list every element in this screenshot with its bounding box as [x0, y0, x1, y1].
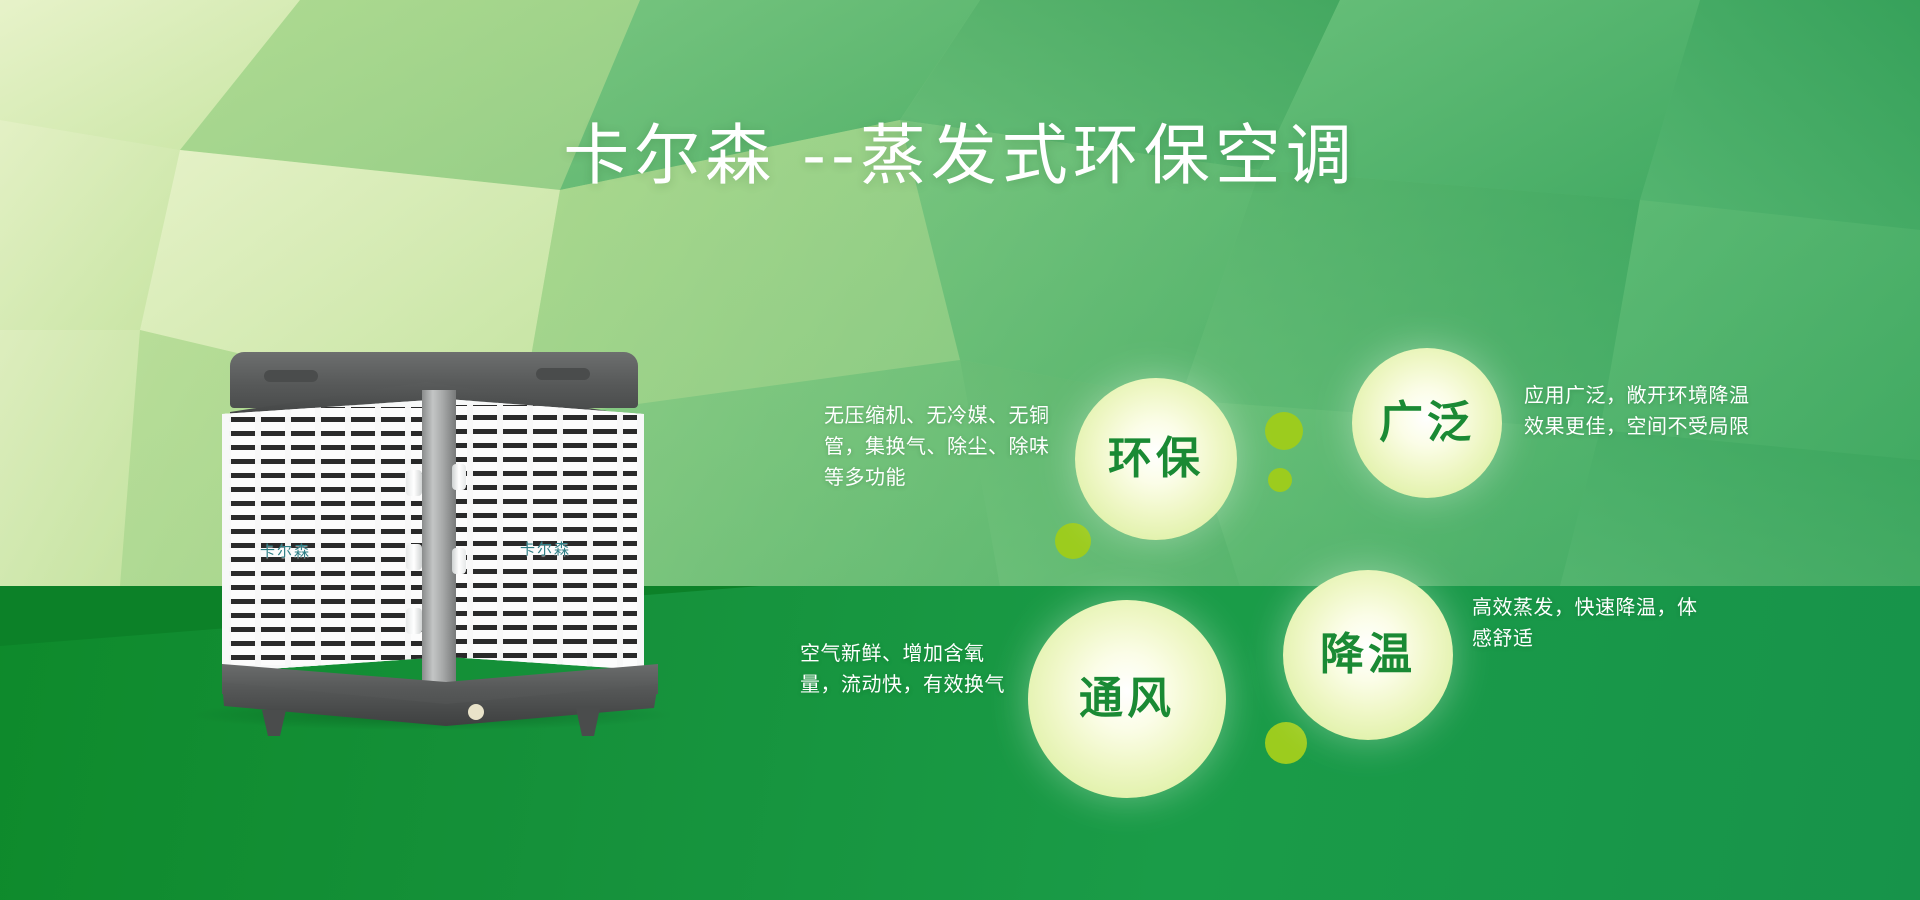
product-corner-post: [422, 390, 456, 690]
feature-circle-guangfan: 广泛: [1352, 348, 1502, 498]
feature-caption-jiangwen: 高效蒸发，快速降温，体感舒适: [1472, 592, 1712, 654]
product-hinge-right-2: [452, 548, 466, 574]
feature-circle-tongfeng: 通风: [1028, 600, 1226, 798]
feature-label-guangfan: 广泛: [1379, 401, 1475, 445]
feature-caption-huanbao: 无压缩机、无冷媒、无铜管，集换气、除尘、除味等多功能: [824, 400, 1056, 493]
product-drain-knob: [468, 704, 484, 720]
product-image-air-cooler: 卡尔森 卡尔森: [200, 352, 660, 752]
product-hinge-left-2: [406, 544, 422, 570]
accent-dot-1: [1265, 412, 1303, 450]
accent-dot-3: [1055, 523, 1091, 559]
page-title: 卡尔森 --蒸发式环保空调: [0, 118, 1920, 194]
feature-label-huanbao: 环保: [1108, 437, 1204, 481]
feature-circle-jiangwen: 降温: [1283, 570, 1453, 740]
accent-dot-2: [1268, 468, 1292, 492]
feature-circle-huanbao: 环保: [1075, 378, 1237, 540]
accent-dot-4: [1265, 722, 1307, 764]
product-brand-label-right: 卡尔森: [520, 538, 571, 559]
feature-caption-guangfan: 应用广泛，敞开环境降温效果更佳，空间不受局限: [1524, 380, 1754, 442]
product-handle-right: [536, 368, 590, 380]
promo-banner: 卡尔森 --蒸发式环保空调 卡尔森 卡尔森: [0, 0, 1920, 900]
louver-frame-right: [434, 398, 644, 674]
product-hinge-left-1: [406, 470, 422, 496]
feature-caption-tongfeng: 空气新鲜、增加含氧量，流动快，有效换气: [800, 638, 1015, 700]
feature-label-jiangwen: 降温: [1320, 633, 1416, 677]
louver-frame-left: [222, 400, 430, 672]
product-hinge-left-3: [406, 608, 422, 634]
product-handle-left: [264, 370, 318, 382]
product-brand-label-left: 卡尔森: [260, 540, 311, 561]
feature-label-tongfeng: 通风: [1079, 677, 1175, 721]
product-hinge-right-1: [452, 464, 466, 490]
product-foot-left: [262, 710, 286, 736]
